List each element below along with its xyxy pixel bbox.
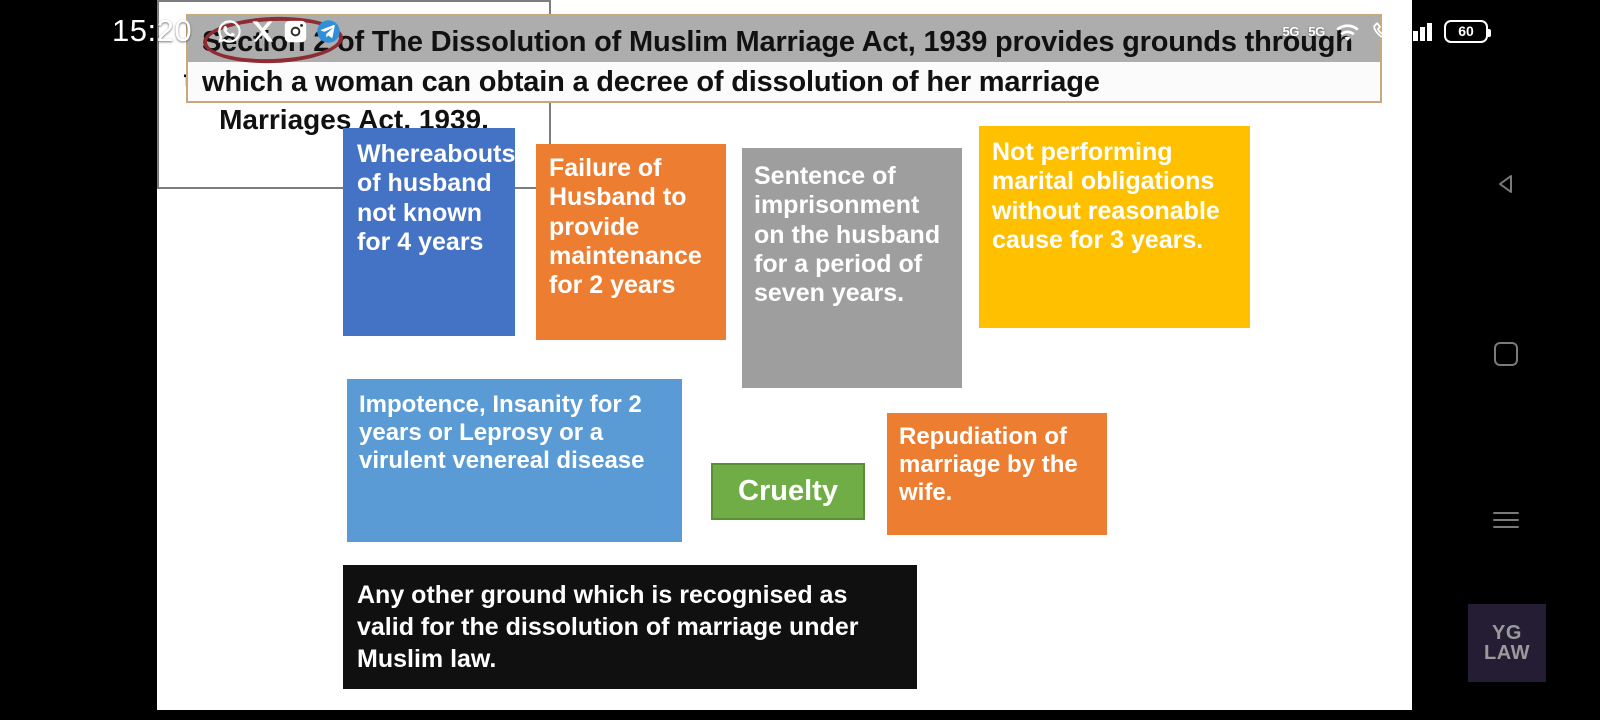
ground-box-whereabouts: Whereabouts of husband not known for 4 y…: [343, 128, 515, 336]
ground-box-repudiation-label: Repudiation of marriage by the wife.: [899, 423, 1099, 507]
recents-lines-icon: [1493, 512, 1519, 528]
title-line-1: Section 2 of The Dissolution of Muslim M…: [202, 26, 1353, 59]
phone-screen: Section 2 of The Dissolution of Muslim M…: [0, 0, 1600, 720]
ground-box-any-other-label: Any other ground which is recognised as …: [357, 579, 907, 675]
ground-box-maintenance: Failure of Husband to provide maintenanc…: [536, 144, 726, 340]
ground-box-impotence-label: Impotence, Insanity for 2 years or Lepro…: [359, 391, 674, 475]
ground-box-imprisonment: Sentence of imprisonment on the husband …: [742, 148, 962, 388]
slide-title-banner: Section 2 of The Dissolution of Muslim M…: [186, 14, 1382, 103]
left-bezel: [0, 0, 157, 720]
ground-box-marital-obligations: Not performing marital obligations witho…: [979, 126, 1250, 328]
ground-box-whereabouts-label: Whereabouts of husband not known for 4 y…: [357, 140, 505, 257]
back-button[interactable]: [1484, 162, 1528, 206]
ground-box-cruelty-label: Cruelty: [738, 475, 838, 509]
ground-box-repudiation: Repudiation of marriage by the wife.: [887, 413, 1107, 535]
home-button[interactable]: [1484, 332, 1528, 376]
watermark-line-2: LAW: [1484, 643, 1530, 663]
ground-box-marital-obligations-label: Not performing marital obligations witho…: [992, 138, 1240, 255]
yg-law-watermark: YG LAW: [1468, 604, 1546, 682]
ground-box-maintenance-label: Failure of Husband to provide maintenanc…: [549, 154, 718, 300]
back-triangle-icon: [1495, 173, 1517, 195]
home-square-icon: [1494, 342, 1518, 366]
ground-box-imprisonment-label: Sentence of imprisonment on the husband …: [754, 162, 954, 308]
ground-box-cruelty: Cruelty: [711, 463, 865, 520]
slide-canvas: Section 2 of The Dissolution of Muslim M…: [157, 0, 1412, 710]
watermark-line-1: YG: [1492, 623, 1522, 643]
ground-box-any-other: Any other ground which is recognised as …: [343, 565, 917, 689]
ground-box-impotence: Impotence, Insanity for 2 years or Lepro…: [347, 379, 682, 542]
recents-button[interactable]: [1484, 498, 1528, 542]
title-line-2: which a woman can obtain a decree of dis…: [202, 66, 1100, 99]
